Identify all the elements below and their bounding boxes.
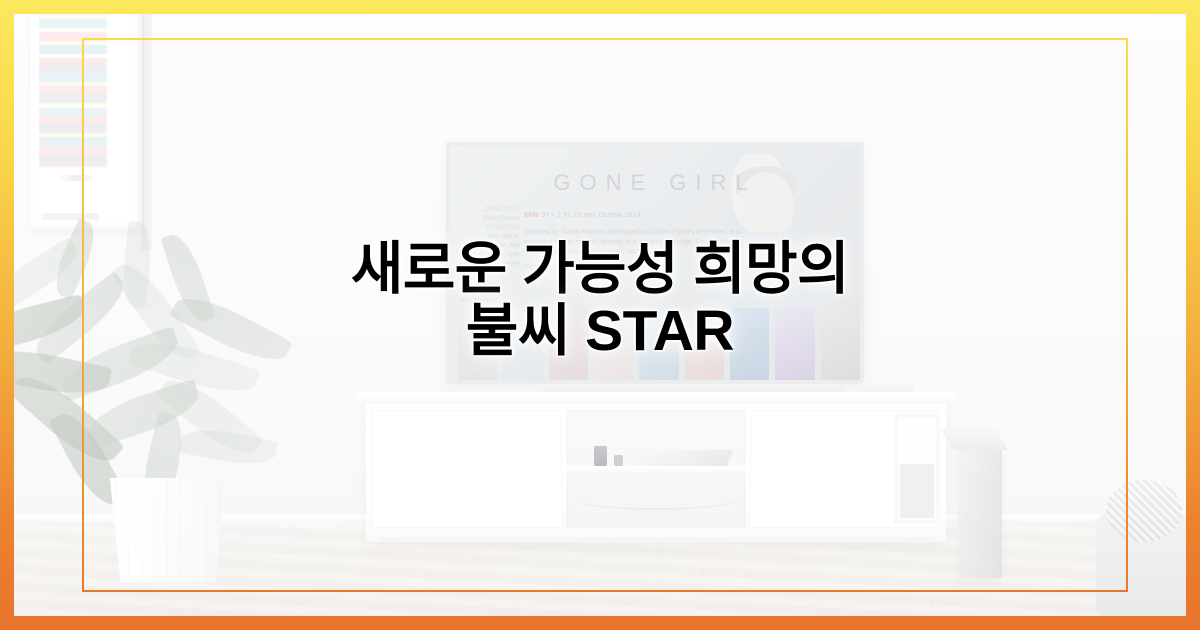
- tv-poster-row: [458, 308, 860, 382]
- wall-frame-small: [894, 414, 940, 524]
- console-base: [378, 532, 934, 541]
- console-top-surface: [358, 392, 954, 404]
- floor-speaker: [958, 446, 1002, 578]
- tv-credits: DIRECTOR David Fincher STARRING Ben Affl…: [458, 206, 520, 269]
- tv-genre: Drama: [599, 212, 622, 219]
- tv-poster-thumb: [821, 308, 860, 382]
- tv-poster-thumb: [730, 308, 769, 382]
- tv-synopsis: Directed by David Fincher and based on G…: [524, 228, 744, 258]
- tv-available-value: iTunes HBO: [565, 264, 600, 270]
- tv-poster-thumb: [503, 308, 542, 382]
- tv-poster-thumb: [775, 308, 814, 382]
- tv-rating: 97+: [542, 212, 555, 219]
- tv-available-label: Available On:: [524, 264, 563, 270]
- tv-score: 88%: [524, 212, 539, 219]
- tv-poster-thumb: [458, 308, 497, 382]
- remote-control: [594, 446, 607, 466]
- framed-artwork: [28, 14, 140, 230]
- speaker-top: [940, 428, 1008, 450]
- tv-director-value: David Fincher: [458, 215, 520, 224]
- tv-year: 2014: [624, 212, 641, 219]
- tv-row-label: Also Watched: [460, 298, 497, 304]
- artwork-signature: [57, 175, 97, 181]
- plant-pot: [102, 478, 234, 582]
- tv-starring-value: Ben Affleck, Rosamund Pike, Neil Patrick…: [458, 233, 520, 269]
- tv-availability: Available On: iTunes HBO: [524, 264, 601, 270]
- tv-duration: 2 hr 29 min: [557, 212, 596, 219]
- tv-movie-title: GONE GIRL: [450, 170, 860, 196]
- tv-starring-label: STARRING: [458, 224, 520, 233]
- knitted-basket: [1096, 514, 1186, 616]
- poster-card: GONE GIRL DIRECTOR David Fincher STARRIN…: [0, 0, 1200, 630]
- small-remote: [614, 455, 623, 466]
- tv-poster-thumb: [639, 308, 678, 382]
- laptop: [635, 450, 733, 466]
- tv-meta-row: 88% 97+ 2 hr 29 min Drama 2014: [524, 212, 641, 219]
- console-cabinet-left: [372, 410, 562, 528]
- background-photo: GONE GIRL DIRECTOR David Fincher STARRIN…: [14, 14, 1186, 616]
- console-shelf: [566, 466, 746, 475]
- tv-poster-thumb: [594, 308, 633, 382]
- wall-frame-inner: [900, 464, 934, 518]
- potted-plant: [14, 250, 304, 580]
- tv-poster-thumb: [685, 308, 724, 382]
- wall-panel-edge: [142, 14, 152, 250]
- television: GONE GIRL DIRECTOR David Fincher STARRIN…: [446, 142, 864, 384]
- tv-poster-thumb: [549, 308, 588, 382]
- tv-console: [366, 400, 946, 542]
- basket-knit-texture: [1106, 480, 1182, 542]
- artwork-stripes: [39, 14, 107, 167]
- cable: [576, 488, 736, 510]
- artwork-caption: [41, 213, 99, 220]
- tv-director-label: DIRECTOR: [458, 206, 520, 215]
